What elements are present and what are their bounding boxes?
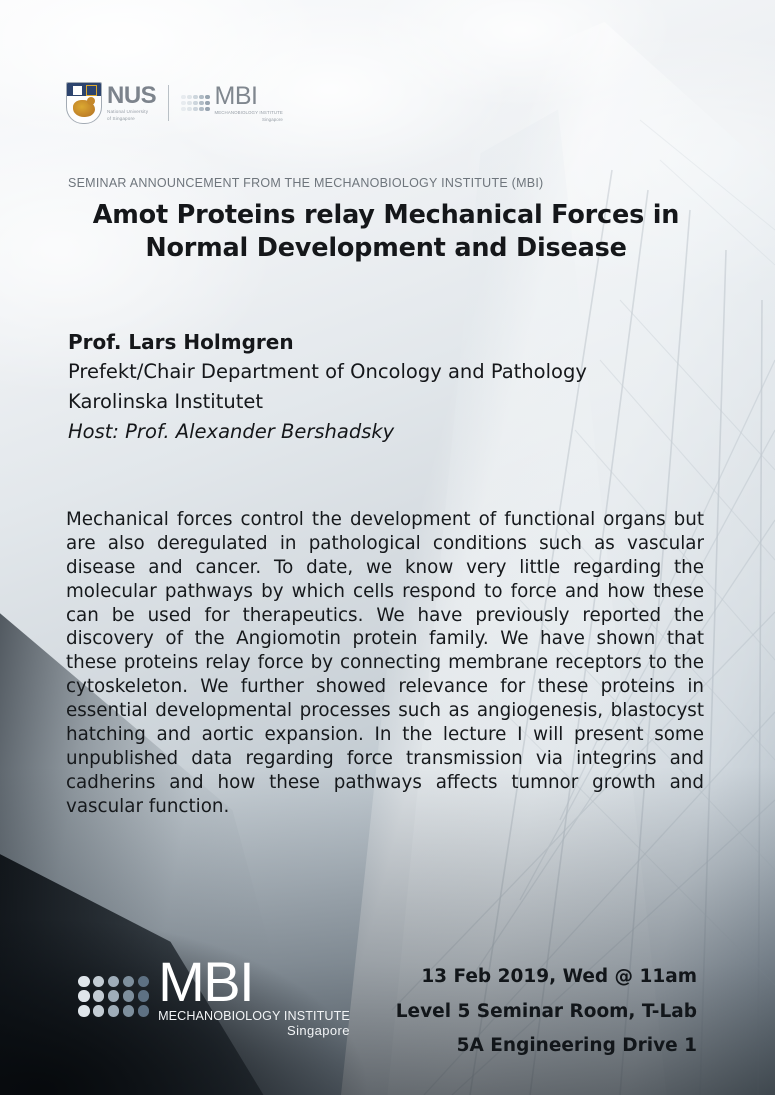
seminar-announcement-kicker: SEMINAR ANNOUNCEMENT FROM THE MECHANOBIO…	[68, 176, 543, 190]
mbi-dot-grid-footer-icon	[78, 976, 149, 1017]
nus-subtitle-line1: National University	[107, 110, 156, 115]
speaker-affiliation-2: Karolinska Institutet	[68, 387, 688, 417]
mbi-subtitle-footer-line1: MECHANOBIOLOGY INSTITUTE	[158, 1011, 350, 1023]
logo-divider	[168, 85, 169, 121]
abstract-text: Mechanical forces control the developmen…	[66, 508, 704, 818]
nus-wordmark: NUS National University of Singapore	[107, 84, 156, 121]
mbi-dot-grid-icon	[181, 95, 209, 111]
mbi-wordmark-footer: MBI MECHANOBIOLOGY INSTITUTE Singapore	[158, 955, 350, 1037]
speaker-block: Prof. Lars Holmgren Prefekt/Chair Depart…	[68, 327, 688, 446]
nus-logo: NUS National University of Singapore	[66, 82, 156, 124]
mbi-wordmark-header: MBI MECHANOBIOLOGY INSTITUTE Singapore	[215, 84, 283, 122]
mbi-subtitle-footer-line2: Singapore	[158, 1025, 350, 1037]
event-datetime: 13 Feb 2019, Wed @ 11am	[396, 960, 697, 995]
event-venue: Level 5 Seminar Room, T-Lab	[396, 995, 697, 1030]
mbi-acronym-footer: MBI	[158, 955, 350, 1008]
mbi-subtitle-header-line1: MECHANOBIOLOGY INSTITUTE	[215, 111, 283, 115]
speaker-name: Prof. Lars Holmgren	[68, 327, 688, 357]
event-details: 13 Feb 2019, Wed @ 11am Level 5 Seminar …	[396, 960, 697, 1064]
speaker-affiliation-1: Prefekt/Chair Department of Oncology and…	[68, 357, 688, 387]
header-logo-group: NUS National University of Singapore MBI…	[66, 82, 283, 124]
seminar-host: Host: Prof. Alexander Bershadsky	[68, 417, 688, 447]
mbi-logo-header: MBI MECHANOBIOLOGY INSTITUTE Singapore	[181, 84, 283, 122]
nus-acronym: NUS	[107, 84, 156, 108]
mbi-acronym-header: MBI	[215, 84, 283, 109]
page-title: Amot Proteins relay Mechanical Forces in…	[62, 199, 710, 264]
nus-subtitle-line2: of Singapore	[107, 117, 156, 122]
mbi-logo-footer: MBI MECHANOBIOLOGY INSTITUTE Singapore	[78, 955, 350, 1037]
seminar-poster: NUS National University of Singapore MBI…	[0, 0, 775, 1095]
mbi-subtitle-header-line2: Singapore	[215, 118, 283, 122]
nus-crest-icon	[66, 82, 102, 124]
event-address: 5A Engineering Drive 1	[396, 1029, 697, 1064]
